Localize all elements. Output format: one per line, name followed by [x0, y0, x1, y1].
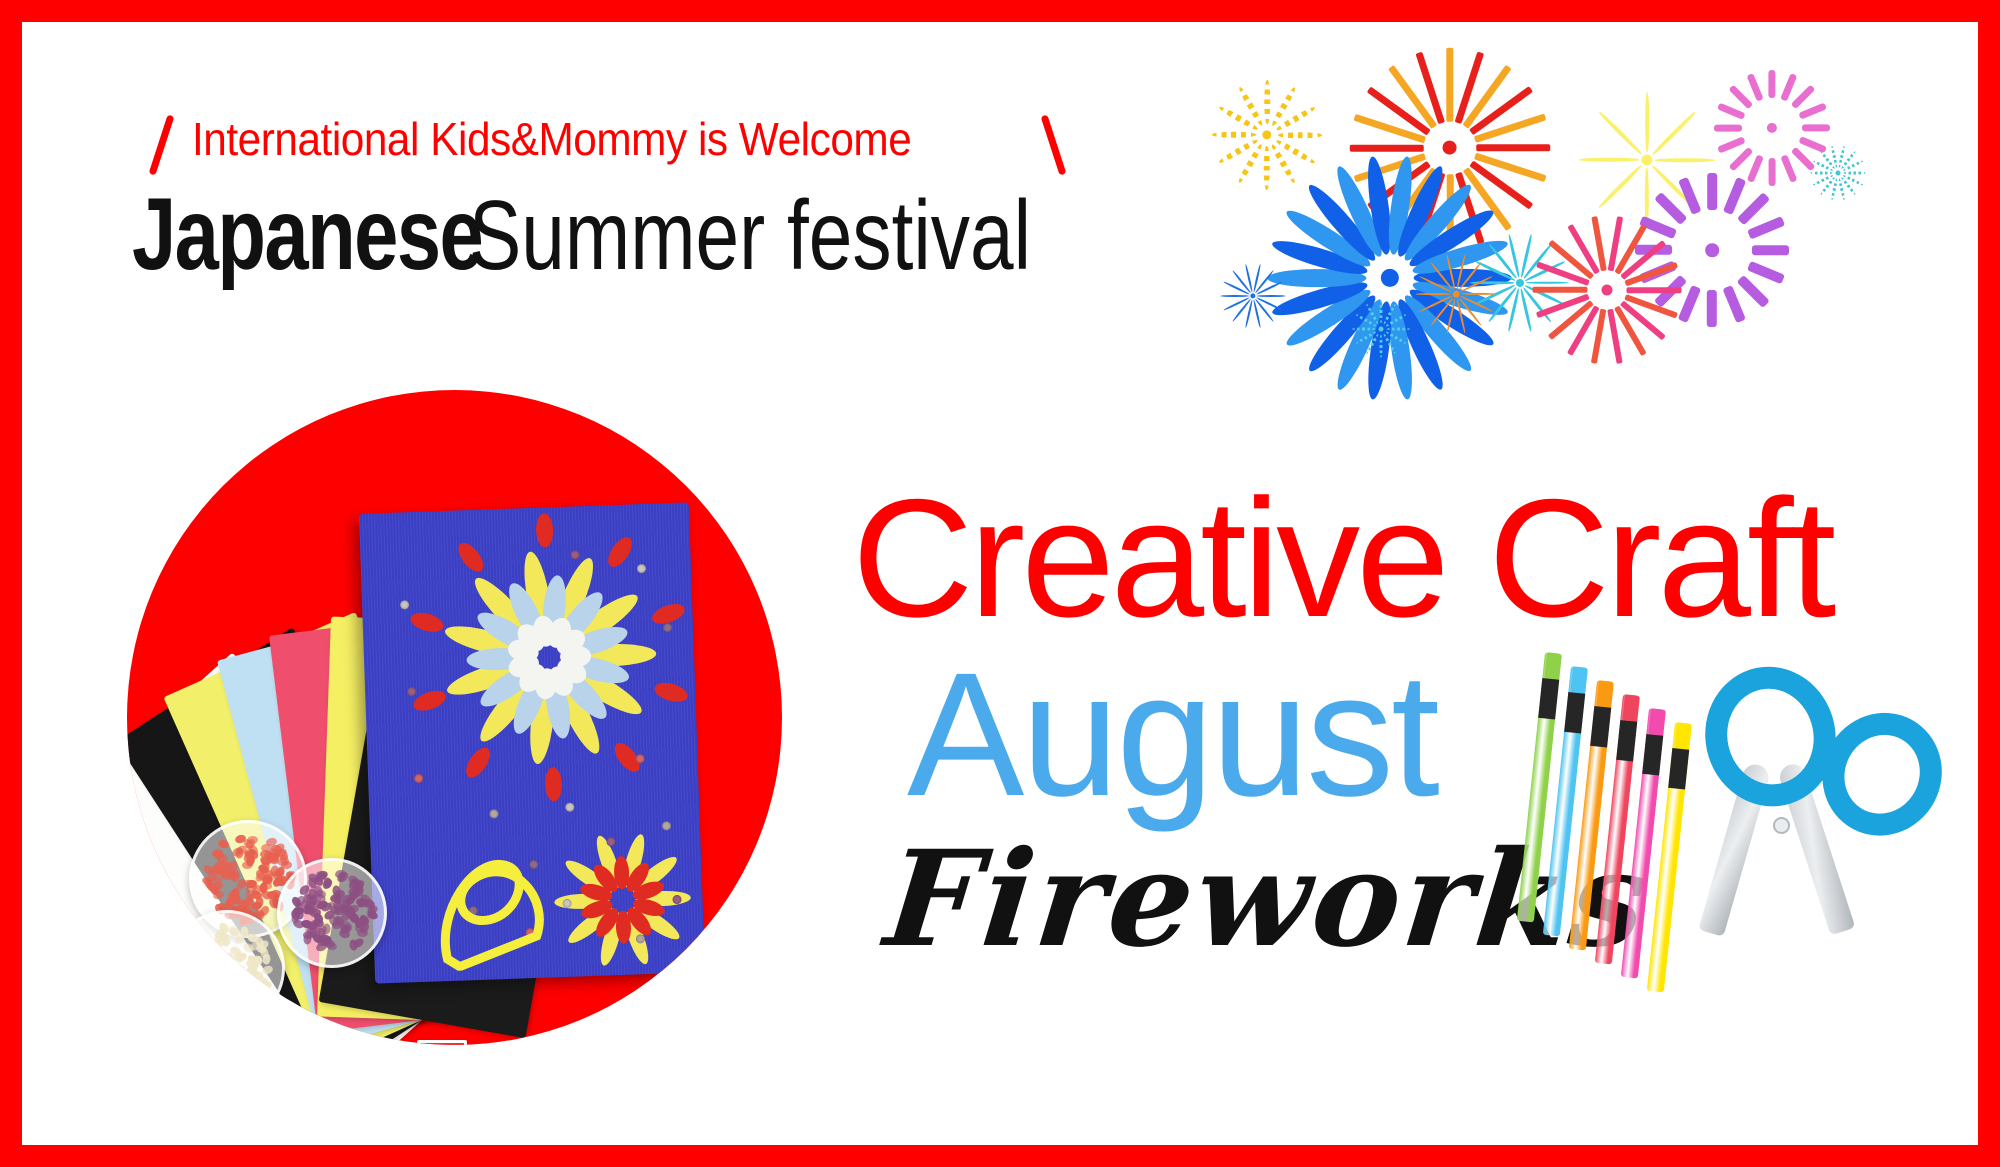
marker-band [1590, 706, 1611, 748]
cyan-small-burst [1810, 145, 1866, 201]
marker-band [1538, 678, 1559, 720]
headline-block: International Kids&Mommy is Welcome Japa… [132, 104, 1032, 182]
title-august: August [907, 647, 1437, 823]
promotional-banner: International Kids&Mommy is Welcome Japa… [0, 0, 2000, 1167]
slash-left-icon [149, 114, 175, 175]
cyan-dot-burst [1352, 300, 1410, 358]
fireworks-graphic [1212, 50, 1932, 380]
scissors-icon [1712, 657, 1912, 947]
blue-craft-card [359, 502, 705, 983]
marker-band [1668, 748, 1689, 790]
blue-tiny-burst [1222, 265, 1284, 327]
marker-band [1616, 720, 1637, 762]
marker-tip [1596, 680, 1612, 707]
marker-band [1642, 734, 1663, 776]
festival-title: Japanese Summer festival [132, 176, 1172, 293]
craft-photo-circle: ii NIHONGO [127, 390, 782, 1045]
banner-inner-panel: International Kids&Mommy is Welcome Japa… [22, 22, 1978, 1145]
cream-sequin-bowl [169, 910, 285, 1026]
festival-title-light: Summer festival [469, 179, 1031, 292]
festival-title-bold: Japanese [132, 176, 482, 293]
title-creative-craft: Creative Craft [852, 474, 1832, 642]
yellow-paper-scribble [425, 837, 564, 972]
scissors-pivot [1773, 817, 1790, 834]
slash-right-icon [1041, 114, 1067, 175]
marker-band [1564, 692, 1585, 734]
pink-red-burst [1542, 225, 1672, 355]
marker-tip [1648, 708, 1664, 735]
craft-supplies-graphic [1537, 647, 1917, 957]
brand-logo-card: ii NIHONGO [417, 1040, 467, 1045]
tagline-row: International Kids&Mommy is Welcome [132, 104, 1032, 182]
purple-sequin-bowl [277, 858, 387, 968]
marker-tip [1622, 694, 1638, 721]
marker-tip [1544, 652, 1560, 679]
marker-tip [1570, 666, 1586, 693]
marker-tip [1674, 722, 1690, 749]
tagline-text: International Kids&Mommy is Welcome [192, 112, 911, 166]
orange-small-burst [1417, 255, 1495, 333]
